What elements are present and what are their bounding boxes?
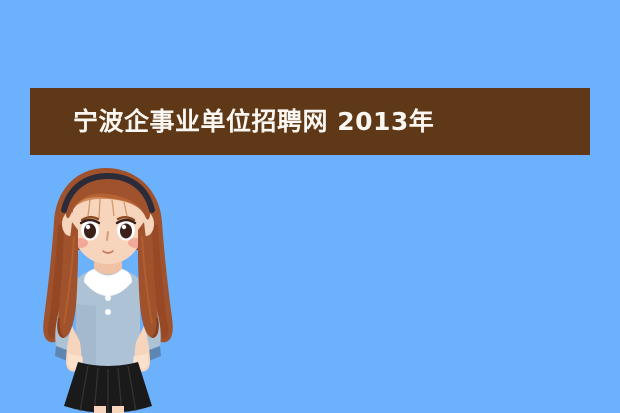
pupil-left <box>84 224 96 239</box>
pupil-right <box>120 224 132 239</box>
page-canvas: 宁波企事业单位招聘网 2013年 <box>0 0 620 413</box>
shirt-button-2 <box>105 309 111 315</box>
shirt-button-1 <box>105 295 111 301</box>
banner-title-text: 宁波企事业单位招聘网 2013年 <box>73 109 434 134</box>
schoolgirl-illustration <box>28 166 188 413</box>
eye-glint-left <box>86 225 90 229</box>
eye-glint-right <box>122 225 126 229</box>
title-banner: 宁波企事业单位招聘网 2013年 <box>30 88 590 155</box>
nose <box>107 232 108 240</box>
leg-right <box>112 406 124 413</box>
leg-left <box>94 406 106 413</box>
